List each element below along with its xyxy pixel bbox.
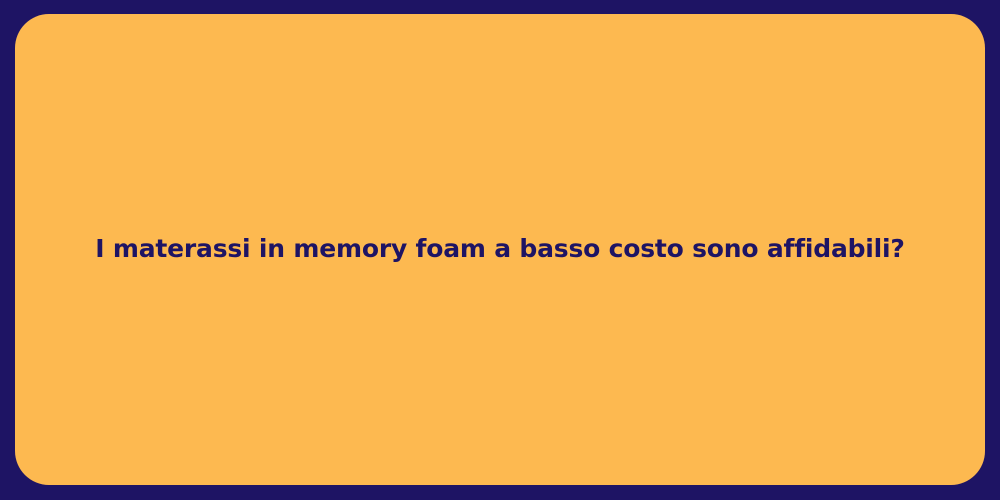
headline-container: I materassi in memory foam a basso costo… xyxy=(15,234,985,264)
outer-frame: I materassi in memory foam a basso costo… xyxy=(0,0,1000,500)
page-title: I materassi in memory foam a basso costo… xyxy=(75,234,924,264)
content-card: I materassi in memory foam a basso costo… xyxy=(15,14,985,485)
